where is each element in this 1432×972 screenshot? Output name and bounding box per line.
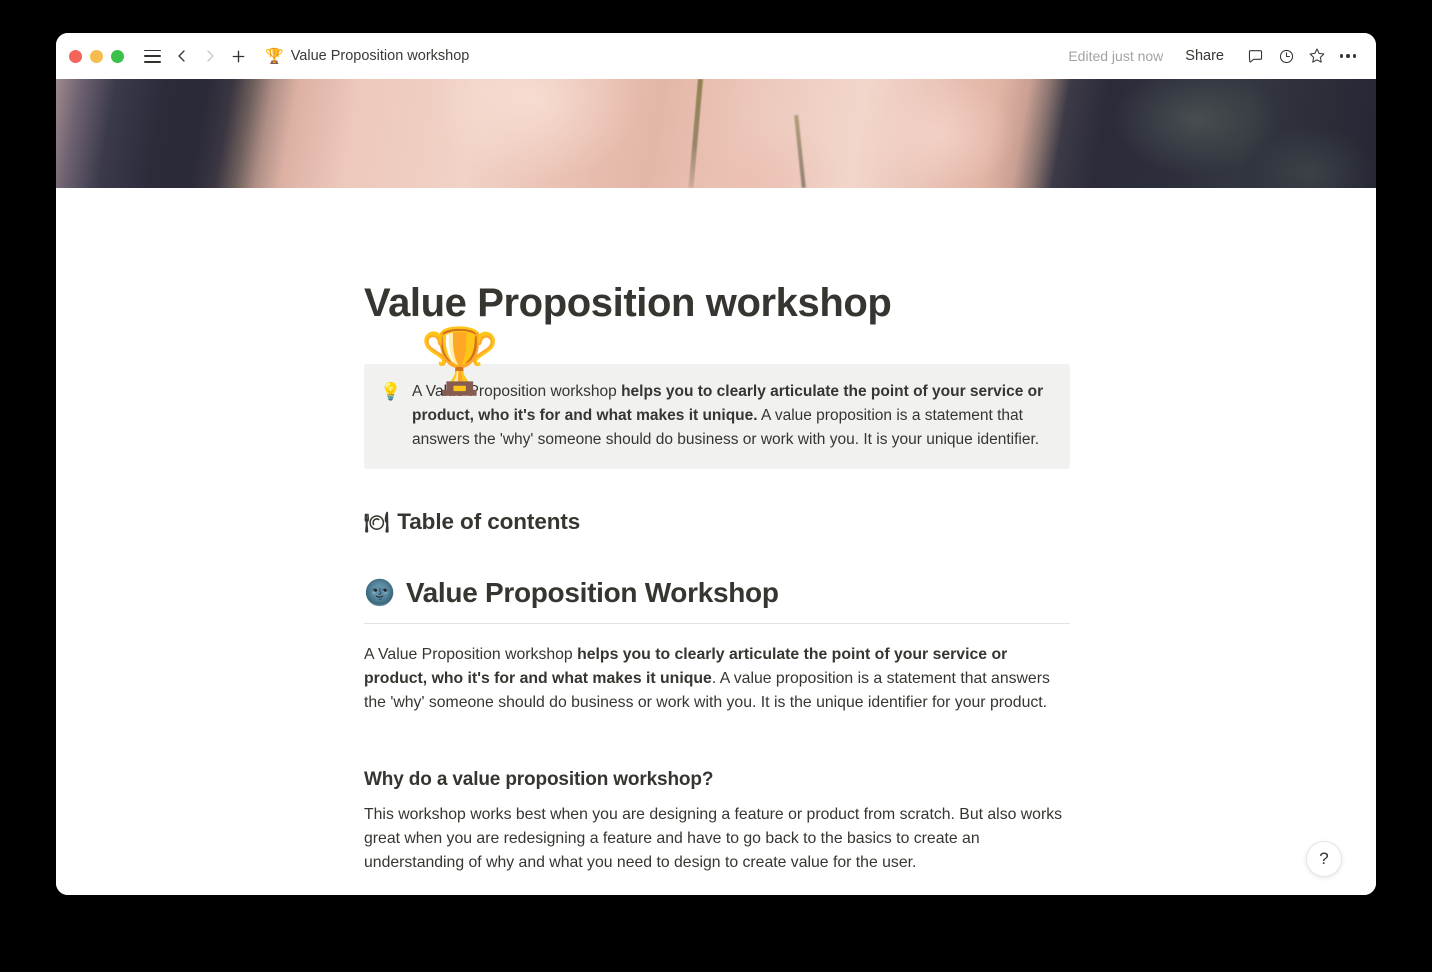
plate-cutlery-icon: 🍽 — [364, 510, 389, 535]
edited-status: Edited just now — [1068, 48, 1163, 64]
breadcrumb[interactable]: 🏆 Value Proposition workshop — [265, 48, 469, 64]
intro-paragraph[interactable]: A Value Proposition workshop helps you t… — [364, 643, 1070, 716]
notion-window: 🏆 Value Proposition workshop Edited just… — [56, 33, 1376, 895]
sidebar-toggle-icon[interactable] — [139, 43, 165, 69]
navigation-controls — [169, 43, 251, 69]
titlebar-actions: Edited just now Share — [1068, 42, 1362, 70]
new-page-plus-icon[interactable] — [225, 43, 251, 69]
comments-icon[interactable] — [1241, 42, 1269, 70]
page-cover[interactable] — [56, 79, 1376, 188]
heading-table-of-contents[interactable]: 🍽 Table of contents — [364, 509, 1070, 535]
heading-why-do-a-value-proposition-workshop[interactable]: Why do a value proposition workshop? — [364, 769, 1070, 791]
hamburger-icon — [144, 50, 161, 63]
page-column: Value Proposition workshop 💡 A Value Pro… — [362, 188, 1070, 875]
section-divider — [364, 623, 1070, 624]
new-moon-face-icon: 🌚 — [364, 581, 395, 606]
more-options-button[interactable] — [1334, 42, 1362, 70]
lightbulb-icon: 💡 — [380, 380, 402, 452]
share-button[interactable]: Share — [1177, 44, 1232, 68]
page-content: 🏆 Value Proposition workshop 💡 A Value P… — [56, 188, 1376, 895]
help-button[interactable]: ? — [1306, 841, 1342, 877]
breadcrumb-title: Value Proposition workshop — [291, 48, 470, 64]
forward-chevron-icon[interactable] — [197, 43, 223, 69]
page-icon-trophy[interactable]: 🏆 — [420, 329, 500, 393]
toc-heading-label: Table of contents — [397, 509, 580, 535]
ellipsis-icon — [1340, 54, 1357, 57]
screen: 🏆 Value Proposition workshop Edited just… — [0, 0, 1432, 972]
favorite-star-icon[interactable] — [1303, 42, 1331, 70]
why-paragraph[interactable]: This workshop works best when you are de… — [364, 803, 1070, 876]
heading-value-proposition-workshop[interactable]: 🌚 Value Proposition Workshop — [364, 577, 1070, 609]
intro-lead: A Value Proposition workshop — [364, 646, 577, 663]
window-titlebar: 🏆 Value Proposition workshop Edited just… — [56, 33, 1376, 79]
close-window-button[interactable] — [69, 50, 82, 63]
cover-image — [56, 79, 1376, 188]
section-heading-label: Value Proposition Workshop — [406, 577, 779, 609]
callout-text: A Value Proposition workshop helps you t… — [412, 380, 1054, 452]
maximize-window-button[interactable] — [111, 50, 124, 63]
traffic-lights — [69, 50, 124, 63]
back-chevron-icon[interactable] — [169, 43, 195, 69]
history-clock-icon[interactable] — [1272, 42, 1300, 70]
page-title[interactable]: Value Proposition workshop — [364, 188, 1070, 326]
trophy-icon: 🏆 — [265, 49, 284, 64]
minimize-window-button[interactable] — [90, 50, 103, 63]
